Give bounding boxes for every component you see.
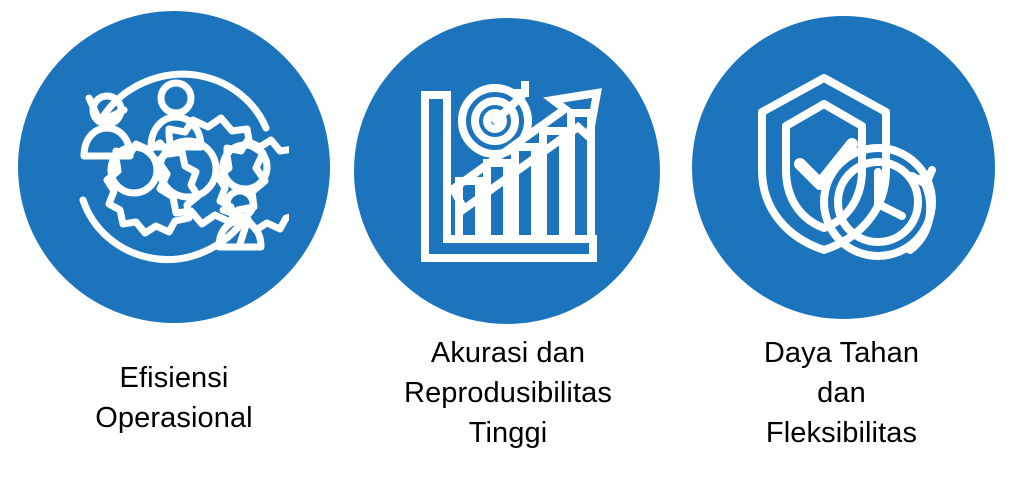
icon-badge-circle-1 [18, 11, 330, 323]
feature-card-akurasi-reprodusibilitas: Akurasi dan Reprodusibilitas Tinggi [348, 0, 668, 494]
icon-badge-circle-2 [354, 18, 660, 324]
icon-badge-circle-3 [692, 16, 995, 319]
infographic-root: Efisiensi Operasional [0, 0, 1015, 494]
shield-check-clock-icon [736, 60, 952, 276]
growth-chart-target-icon [401, 65, 613, 277]
feature-caption-3: Daya Tahan dan Fleksibilitas [668, 333, 1015, 453]
gears-people-cycle-icon [59, 52, 289, 282]
feature-caption-2: Akurasi dan Reprodusibilitas Tinggi [348, 333, 668, 453]
feature-caption-1: Efisiensi Operasional [0, 358, 348, 438]
feature-card-daya-tahan-fleksibilitas: Daya Tahan dan Fleksibilitas [668, 0, 1015, 494]
feature-card-efisiensi-operasional: Efisiensi Operasional [0, 0, 348, 494]
